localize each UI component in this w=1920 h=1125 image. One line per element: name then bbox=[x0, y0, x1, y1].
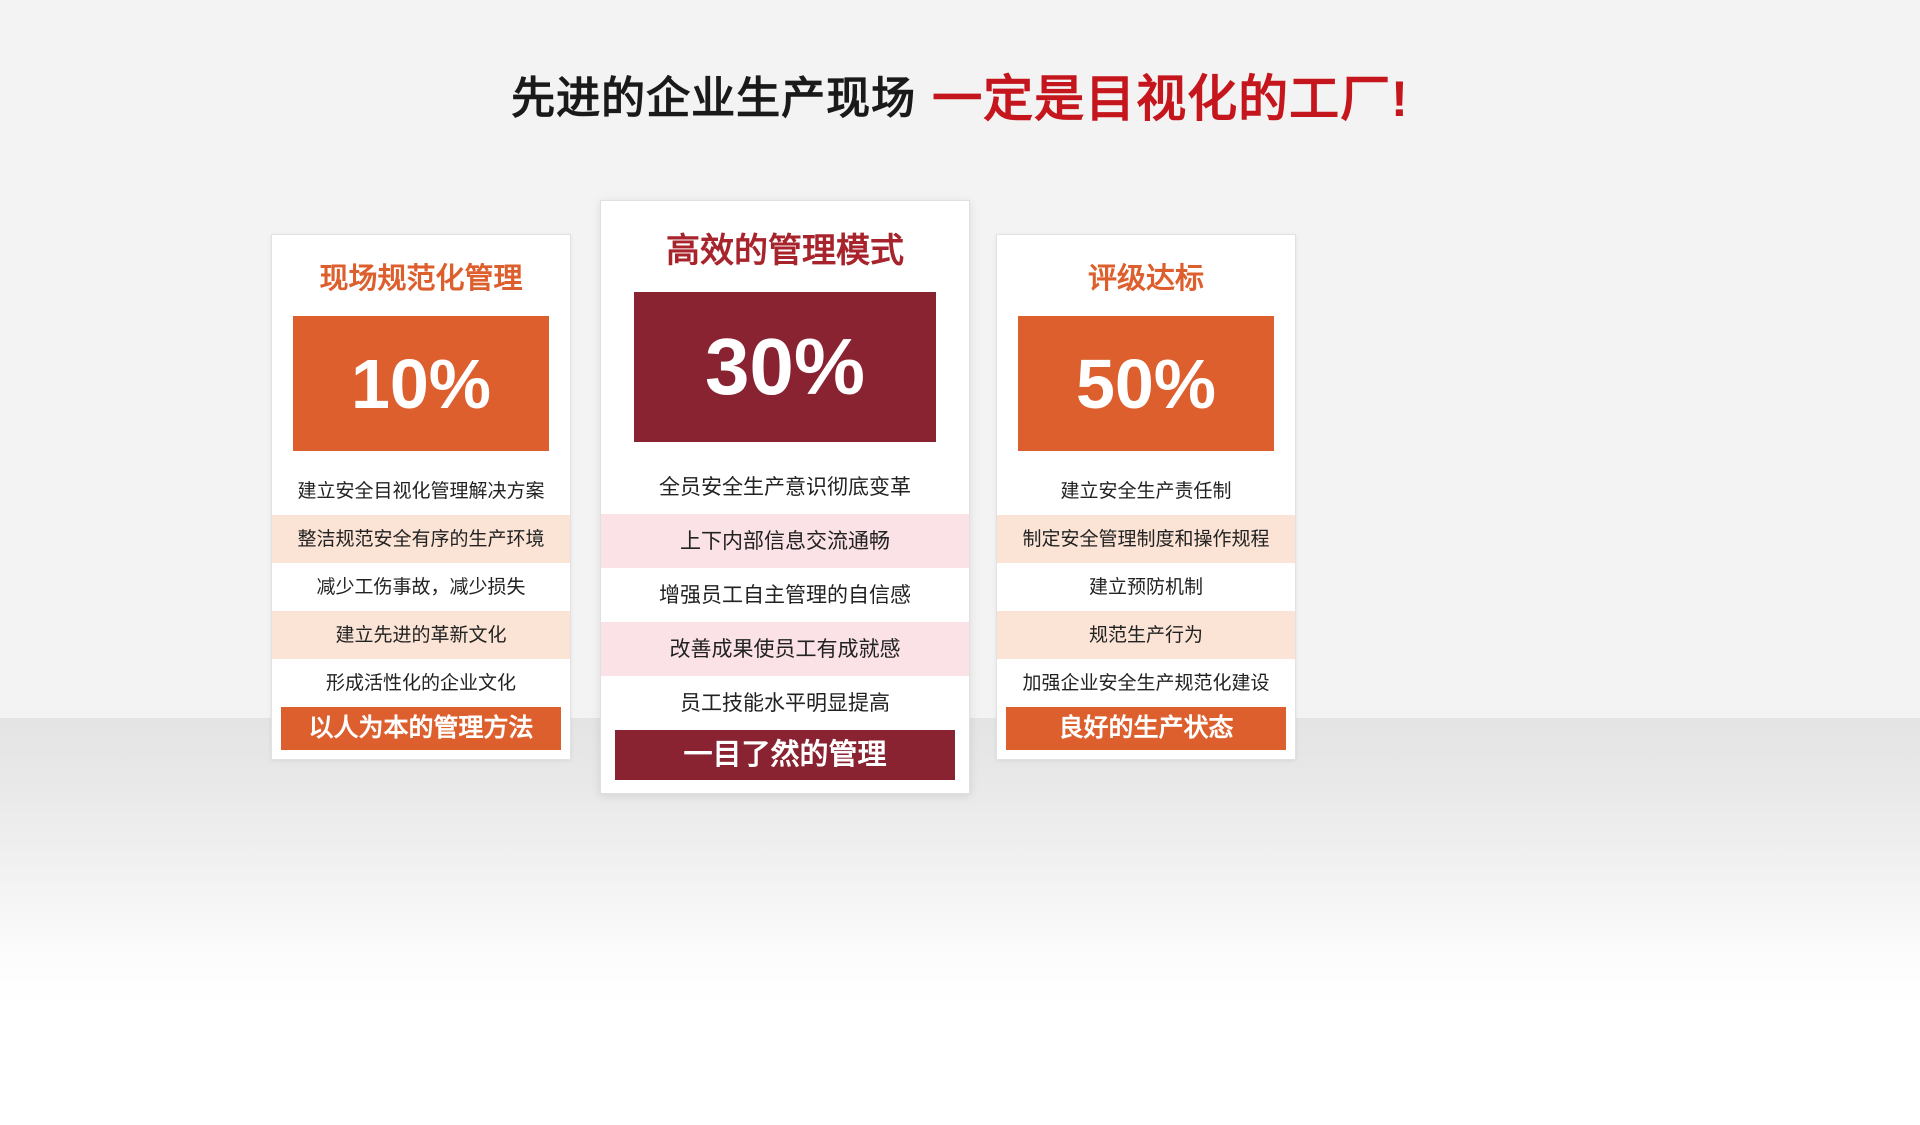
list-item: 全员安全生产意识彻底变革 bbox=[601, 460, 969, 514]
list-item: 减少工伤事故，减少损失 bbox=[272, 563, 570, 611]
page-title-black-segment: 先进的企业生产现场 bbox=[511, 77, 916, 121]
metric-card-rating-compliance[interactable]: 评级达标 50% 建立安全生产责任制 制定安全管理制度和操作规程 建立预防机制 … bbox=[996, 234, 1296, 760]
percent-badge: 10% bbox=[293, 316, 549, 451]
card-heading: 现场规范化管理 bbox=[272, 235, 570, 316]
page-title: 先进的企业生产现场 一定是目视化的工厂! bbox=[0, 63, 1920, 135]
list-item: 建立安全生产责任制 bbox=[997, 467, 1295, 515]
card-footer-banner: 一目了然的管理 bbox=[615, 730, 955, 780]
benefit-list: 建立安全生产责任制 制定安全管理制度和操作规程 建立预防机制 规范生产行为 加强… bbox=[997, 467, 1295, 707]
list-item: 增强员工自主管理的自信感 bbox=[601, 568, 969, 622]
list-item: 员工技能水平明显提高 bbox=[601, 676, 969, 730]
card-heading: 评级达标 bbox=[997, 235, 1295, 316]
percent-badge: 30% bbox=[634, 292, 936, 442]
list-item: 规范生产行为 bbox=[997, 611, 1295, 659]
card-footer-banner: 以人为本的管理方法 bbox=[281, 707, 561, 750]
list-item: 加强企业安全生产规范化建设 bbox=[997, 659, 1295, 707]
list-item: 制定安全管理制度和操作规程 bbox=[997, 515, 1295, 563]
list-item: 建立先进的革新文化 bbox=[272, 611, 570, 659]
card-footer-banner: 良好的生产状态 bbox=[1006, 707, 1286, 750]
list-item: 上下内部信息交流通畅 bbox=[601, 514, 969, 568]
page-title-red-segment: 一定是目视化的工厂! bbox=[932, 74, 1409, 124]
list-item: 建立安全目视化管理解决方案 bbox=[272, 467, 570, 515]
metric-card-site-standardization[interactable]: 现场规范化管理 10% 建立安全目视化管理解决方案 整洁规范安全有序的生产环境 … bbox=[271, 234, 571, 760]
benefit-list: 建立安全目视化管理解决方案 整洁规范安全有序的生产环境 减少工伤事故，减少损失 … bbox=[272, 467, 570, 707]
list-item: 形成活性化的企业文化 bbox=[272, 659, 570, 707]
list-item: 建立预防机制 bbox=[997, 563, 1295, 611]
percent-badge: 50% bbox=[1018, 316, 1274, 451]
benefit-list: 全员安全生产意识彻底变革 上下内部信息交流通畅 增强员工自主管理的自信感 改善成… bbox=[601, 460, 969, 730]
list-item: 整洁规范安全有序的生产环境 bbox=[272, 515, 570, 563]
card-heading: 高效的管理模式 bbox=[601, 201, 969, 292]
list-item: 改善成果使员工有成就感 bbox=[601, 622, 969, 676]
metric-card-efficient-management[interactable]: 高效的管理模式 30% 全员安全生产意识彻底变革 上下内部信息交流通畅 增强员工… bbox=[600, 200, 970, 794]
